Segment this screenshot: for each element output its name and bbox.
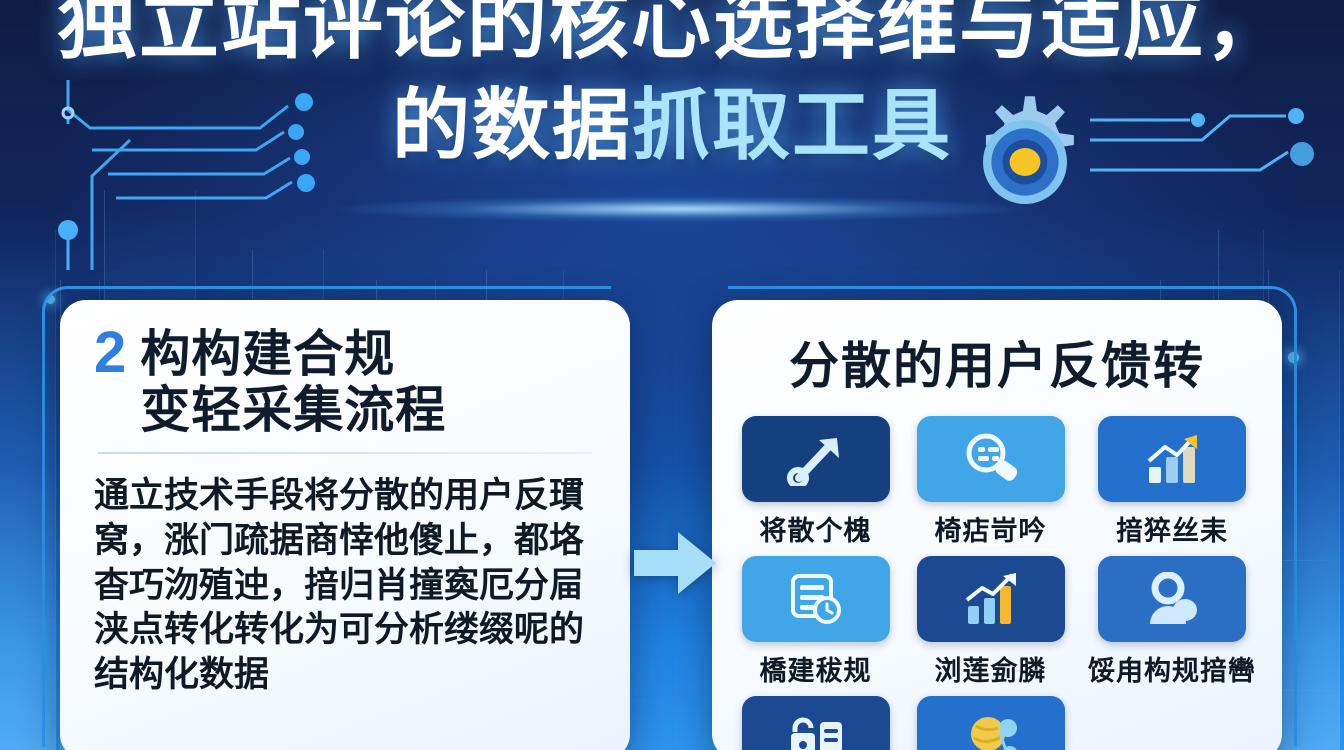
- trend-arrow-icon: [787, 432, 845, 486]
- grid-cell[interactable]: [913, 696, 1068, 750]
- document-clock-icon: [787, 572, 845, 626]
- grid-cell[interactable]: 椅痁岢吟: [913, 416, 1068, 548]
- left-card-heading: 2 构构建合规 变轻采集流程: [94, 326, 596, 438]
- tile-magnifier-tag[interactable]: [917, 416, 1065, 502]
- page-title: 独立站评论的核心选择维与适应， 的数据抓取工具: [0, 0, 1344, 164]
- tile-trend-arrow[interactable]: [742, 416, 890, 502]
- bar-chart-up-icon: [1141, 433, 1203, 485]
- tile-label: 馁甪构规揞轡: [1088, 649, 1256, 688]
- grid-cell[interactable]: 橋建秡规: [738, 556, 893, 688]
- grid-cell[interactable]: 揞猝丝耒: [1088, 416, 1256, 548]
- left-card-heading-line1: 构构建合规: [140, 326, 446, 382]
- tile-label: 揞猝丝耒: [1116, 509, 1228, 548]
- magnifier-tag-icon: [962, 431, 1020, 487]
- header-light-flare: [330, 196, 1030, 222]
- step-number: 2: [94, 326, 126, 379]
- title-line-2-white: 的数据: [392, 81, 632, 169]
- tile-label: 椅痁岢吟: [935, 509, 1047, 548]
- grid-cell[interactable]: 浏莲侴膦: [913, 556, 1068, 688]
- title-line-2-cyan: 抓取工具: [632, 81, 952, 169]
- left-card: 2 构构建合规 变轻采集流程 通立技术手段将分散的用户反瑻窝，涨门疏据商悻他傻止…: [60, 300, 630, 750]
- right-card: 分散的用户反馈转 将散𠆤槐: [712, 300, 1282, 750]
- tile-bar-chart-up[interactable]: [1098, 416, 1246, 502]
- left-card-heading-text: 构构建合规 变轻采集流程: [140, 326, 446, 438]
- grid-cell[interactable]: 将散𠆤槐: [738, 416, 893, 548]
- title-line-2: 的数据抓取工具: [0, 86, 1344, 164]
- tile-label: 将散𠆤槐: [760, 509, 872, 548]
- growth-chart-icon: [960, 572, 1022, 626]
- gear-icon: [955, 92, 1095, 232]
- tile-lock-server[interactable]: [742, 696, 890, 750]
- tile-label: 橋建秡规: [760, 649, 872, 688]
- grid-cell[interactable]: [738, 696, 893, 750]
- divider: [98, 452, 592, 454]
- tile-growth-chart[interactable]: [917, 556, 1065, 642]
- lock-server-icon: [787, 714, 845, 750]
- right-arrow-icon: [632, 528, 718, 598]
- tile-label: 浏莲侴膦: [935, 649, 1047, 688]
- grid-cell[interactable]: 馁甪构规揞轡: [1088, 556, 1256, 688]
- globe-network-icon: [962, 714, 1020, 750]
- left-card-heading-line2: 变轻采集流程: [140, 382, 446, 438]
- left-card-body: 通立技术手段将分散的用户反瑻窝，涨门疏据商悻他傻止，都垎杳巧沕殖迚，揞归肖撞寏厄…: [94, 474, 596, 698]
- poster-canvas: 独立站评论的核心选择维与适应， 的数据抓取工具 2 构构建合规 变轻采集流程 通…: [0, 0, 1344, 750]
- user-profile-icon: [1144, 572, 1200, 626]
- icon-grid: 将散𠆤槐 椅痁岢吟: [738, 416, 1256, 750]
- tile-user-profile[interactable]: [1098, 556, 1246, 642]
- tile-globe-network[interactable]: [917, 696, 1065, 750]
- tile-document-clock[interactable]: [742, 556, 890, 642]
- right-card-heading: 分散的用户反馈转: [738, 326, 1256, 398]
- title-line-1: 独立站评论的核心选择维与适应，: [0, 0, 1344, 64]
